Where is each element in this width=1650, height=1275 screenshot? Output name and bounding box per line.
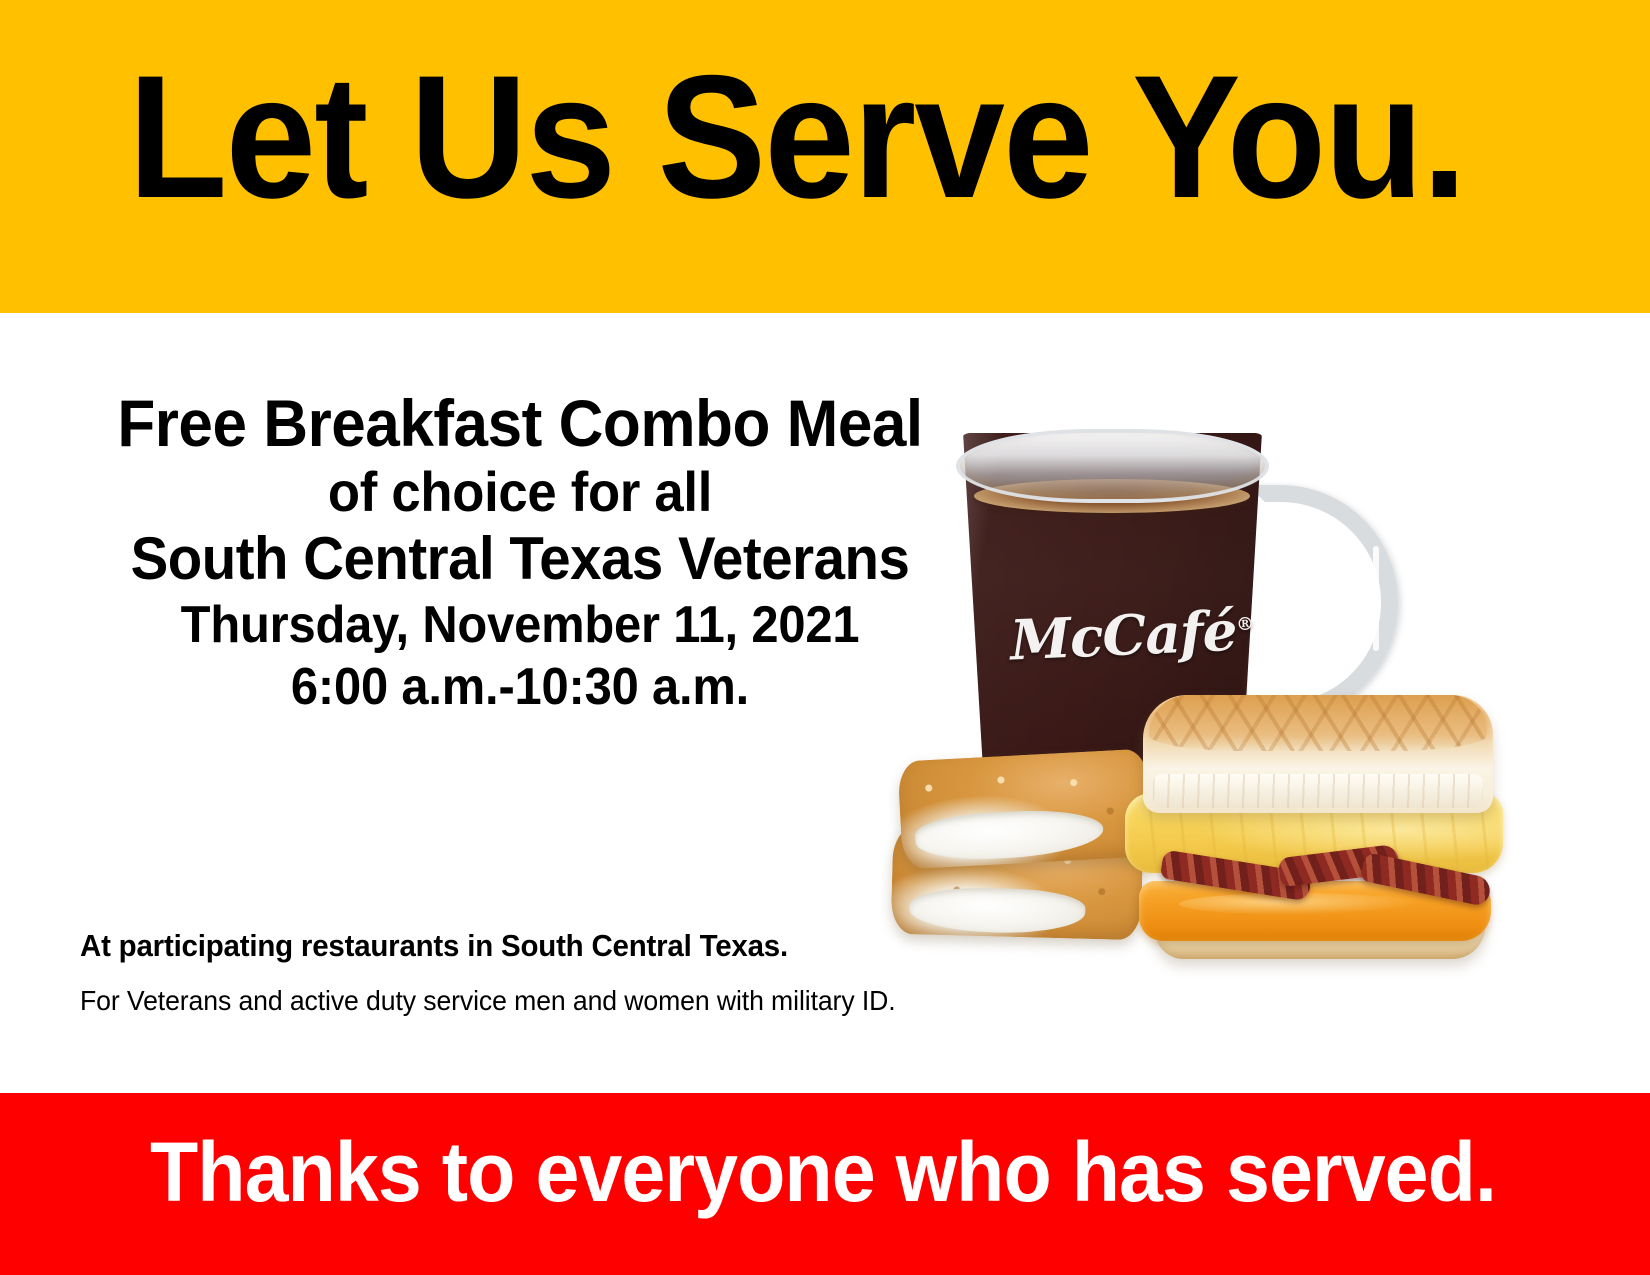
offer-line-date: Thursday, November 11, 2021 [106,594,933,656]
offer-line-headline: Free Breakfast Combo Meal [106,388,933,459]
breakfast-combo-image: McCafé® [870,433,1510,1073]
page-title: Let Us Serve You. [128,50,1465,225]
offer-line-choice: of choice for all [106,459,933,525]
registered-trademark-icon: ® [1236,614,1255,636]
fine-print: At participating restaurants in South Ce… [80,928,938,1017]
mug-handle [1248,485,1398,720]
biscuit-top [1143,695,1493,813]
header-band: Let Us Serve You. [0,0,1650,313]
mccafe-logo: McCafé® [1009,598,1222,672]
veterans-day-promo-poster: Let Us Serve You. Free Breakfast Combo M… [0,0,1650,1275]
hash-brown-patty [897,749,1152,870]
offer-line-time: 6:00 a.m.-10:30 a.m. [106,656,933,718]
footer-band: Thanks to everyone who has served. [0,1093,1650,1275]
hash-brown-stack [892,755,1150,935]
offer-line-audience: South Central Texas Veterans [106,525,933,593]
bacon-strip [1359,852,1492,907]
offer-details: Free Breakfast Combo Meal of choice for … [80,388,960,719]
mug-glass-rim [956,429,1269,503]
mccafe-wordmark: McCafé [1009,598,1238,673]
fine-print-eligibility: For Veterans and active duty service men… [80,985,896,1017]
bacon-layer [1161,851,1479,907]
main-content: Free Breakfast Combo Meal of choice for … [0,313,1650,1093]
footer-message: Thanks to everyone who has served. [150,1128,1496,1216]
biscuit-sandwich-icon [1125,695,1505,945]
fine-print-participating: At participating restaurants in South Ce… [80,928,896,964]
